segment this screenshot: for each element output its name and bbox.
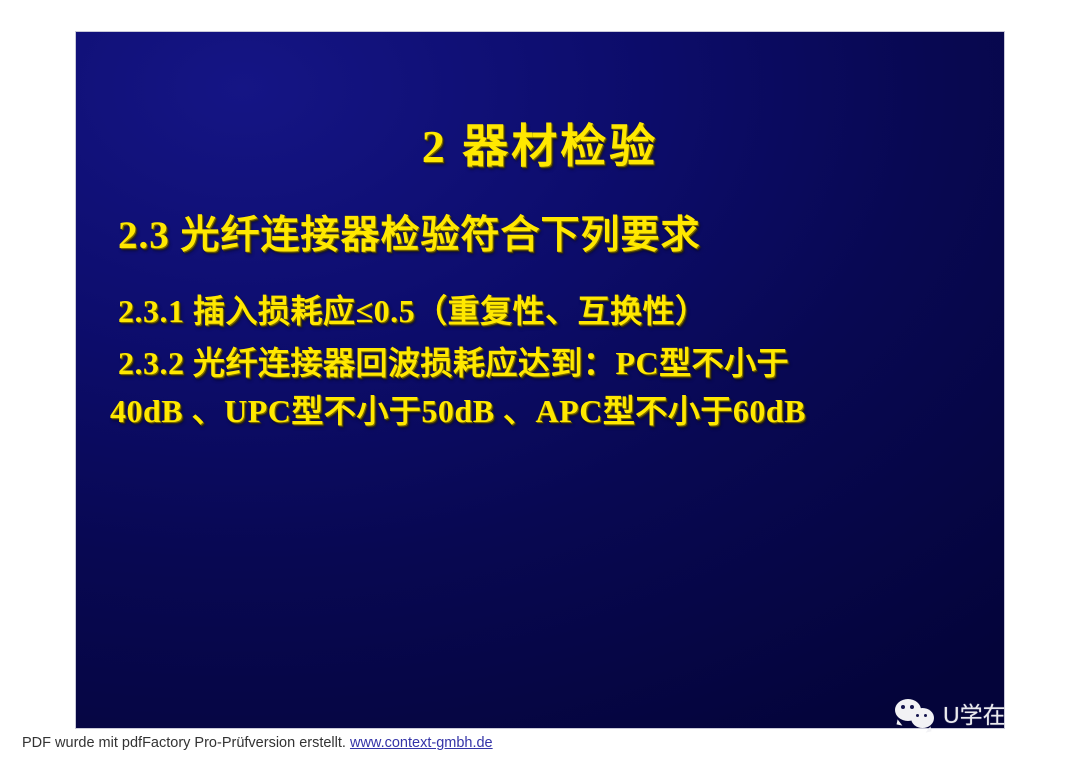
footer-text: PDF wurde mit pdfFactory Pro-Prüfversion… [22, 735, 346, 751]
presentation-slide: 2 器材检验 2.3 光纤连接器检验符合下列要求 2.3.1 插入损耗应≤0.5… [76, 32, 1004, 728]
slide-item-2-3-2-continued: 40dB 、UPC型不小于50dB 、APC型不小于60dB [110, 386, 806, 432]
slide-heading-2-3: 2.3 光纤连接器检验符合下列要求 [118, 204, 701, 260]
slide-title: 2 器材检验 [76, 110, 1004, 176]
footer-link[interactable]: www.context-gmbh.de [350, 735, 493, 751]
slide-item-2-3-1: 2.3.1 插入损耗应≤0.5（重复性、互换性） [118, 286, 708, 332]
footer: PDF wurde mit pdfFactory Pro-Prüfversion… [22, 735, 493, 751]
slide-item-2-3-2: 2.3.2 光纤连接器回波损耗应达到：PC型不小于 [118, 338, 789, 384]
